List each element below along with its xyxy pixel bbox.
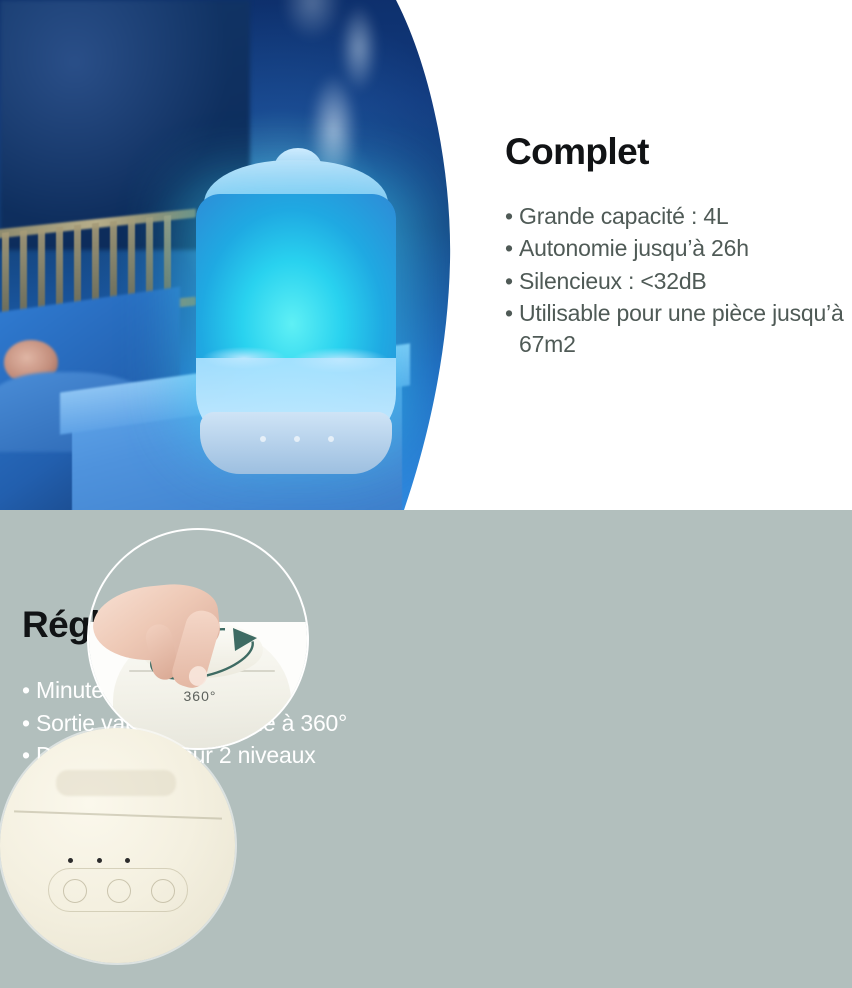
humidifier-photo [196,160,396,470]
complet-feature-list: • Grande capacité : 4L • Autonomie jusqu… [505,201,845,360]
list-item: • Grande capacité : 4L [505,201,845,232]
detail-circle-control-panel [0,728,235,963]
mist-level-button-icon [151,879,175,903]
complet-text-block: Complet • Grande capacité : 4L • Autonom… [505,132,845,362]
section-complet: Complet • Grande capacité : 4L • Autonom… [0,0,852,510]
label-360: 360° [89,688,309,704]
humidifier-body-glow [196,194,396,444]
bullet-icon: • [505,298,519,329]
product-feature-page: Complet • Grande capacité : 4L • Autonom… [0,0,852,988]
feature-text: Autonomie jusqu’à 26h [519,233,845,264]
feature-text: Silencieux : <32dB [519,266,845,297]
list-item: • Silencieux : <32dB [505,266,845,297]
power-button-icon [63,879,87,903]
humidifier-led-indicators [260,436,334,442]
bullet-icon: • [505,233,519,264]
detail-circle-360: 360° [87,528,309,750]
bullet-icon: • [505,266,519,297]
led-indicators [68,858,130,863]
humidifier-base [200,412,392,474]
list-item: • Utilisable pour une pièce jusqu’à 67m2 [505,298,845,359]
list-item: • Autonomie jusqu’à 26h [505,233,845,264]
bullet-icon: • [22,674,36,707]
brand-embossing [56,770,176,796]
bullet-icon: • [505,201,519,232]
feature-text: Grande capacité : 4L [519,201,845,232]
timer-button-icon [107,879,131,903]
heading-complet: Complet [505,132,845,173]
bullet-icon: • [22,707,36,740]
section-reglable: Réglable • Minuteur de 2, 4 ou 8h • Sort… [0,510,852,988]
control-panel [48,868,188,912]
nursery-night-photo [0,0,452,510]
feature-text: Utilisable pour une pièce jusqu’à 67m2 [519,298,845,359]
hand-illustration [93,570,243,686]
